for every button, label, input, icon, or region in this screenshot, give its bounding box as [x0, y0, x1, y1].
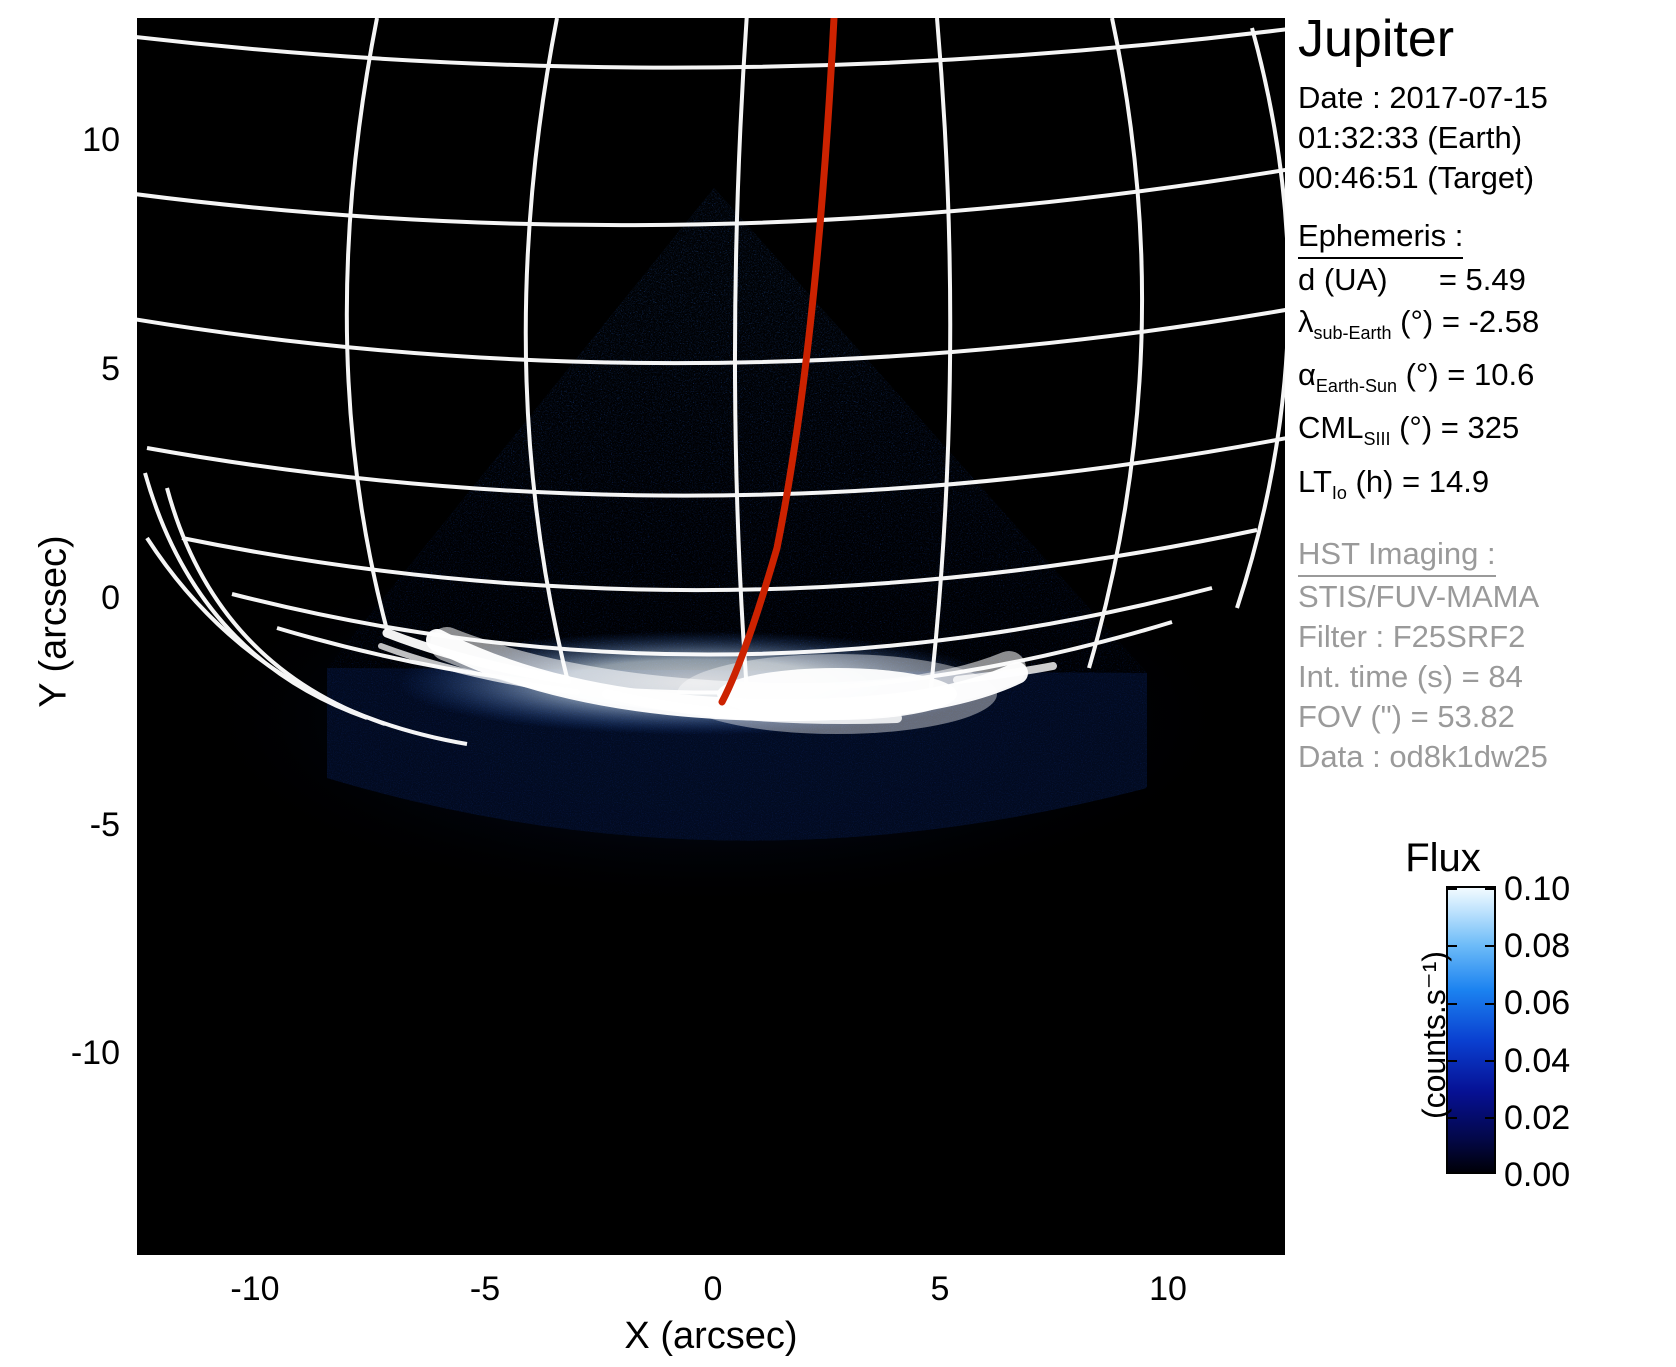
colorbar-tick-mark [1485, 1060, 1494, 1062]
ephemeris-key-lt: LT [1298, 461, 1332, 503]
colorbar-unit-label: (counts.s⁻¹) [1415, 885, 1453, 1185]
y-tick-label-minus10: -10 [10, 1036, 120, 1070]
y-axis-title: Y (arcsec) [33, 472, 76, 772]
imaging-integration-time: Int. time (s) = 84 [1298, 657, 1676, 697]
imaging-filter: Filter : F25SRF2 [1298, 617, 1676, 657]
y-tick-label-5: 5 [10, 352, 120, 386]
ephemeris-row-alpha: αEarth-Sun (°) = 10.6 [1298, 354, 1676, 407]
colorbar-label-002: 0.02 [1504, 1101, 1654, 1135]
ephemeris-row-lambda: λsub-Earth (°) = -2.58 [1298, 301, 1676, 354]
observation-time-earth: 01:32:33 (Earth) [1298, 118, 1676, 158]
colorbar-label-008: 0.08 [1504, 929, 1654, 963]
ephemeris-value-lt: = 14.9 [1402, 464, 1489, 499]
x-tick-label-5: 5 [880, 1272, 1000, 1306]
x-tick-label-minus5: -5 [425, 1272, 545, 1306]
colorbar-label-010: 0.10 [1504, 872, 1654, 906]
x-tick-label-0: 0 [653, 1272, 773, 1306]
imaging-heading: HST Imaging : [1298, 534, 1496, 577]
x-axis-title: X (arcsec) [137, 1315, 1285, 1358]
ephemeris-value-distance: = 5.49 [1439, 262, 1526, 297]
observation-time-target: 00:46:51 (Target) [1298, 158, 1676, 198]
imaging-dataset-id: Data : od8k1dw25 [1298, 737, 1676, 777]
y-tick-label-10: 10 [10, 123, 120, 157]
ephemeris-sub-lambda: sub-Earth [1314, 323, 1392, 343]
ephemeris-sub-alpha: Earth-Sun [1316, 376, 1397, 396]
ephemeris-sub-cml: SIII [1363, 430, 1390, 450]
ephemeris-unit-cml: (°) [1399, 410, 1432, 445]
colorbar-block: Flux 0.10 0.08 0.06 0.04 0.02 0.00 (coun… [1298, 836, 1676, 1196]
ephemeris-unit-lambda: (°) [1400, 304, 1433, 339]
ephemeris-key-distance: d (UA) [1298, 259, 1388, 301]
ephemeris-heading: Ephemeris : [1298, 216, 1463, 259]
ephemeris-value-cml: = 325 [1441, 410, 1519, 445]
ephemeris-unit-lt: (h) [1356, 464, 1394, 499]
ephemeris-unit-alpha: (°) [1406, 357, 1439, 392]
colorbar-tick-mark [1485, 1003, 1494, 1005]
colorbar-label-004: 0.04 [1504, 1044, 1654, 1078]
x-tick-label-10: 10 [1108, 1272, 1228, 1306]
figure-root: 10 5 0 -5 -10 -10 -5 0 5 10 X (arcsec) Y… [0, 0, 1676, 1367]
target-title: Jupiter [1298, 10, 1676, 68]
colorbar-tick-mark [1485, 1172, 1494, 1174]
imaging-instrument: STIS/FUV-MAMA [1298, 577, 1676, 617]
imaging-fov: FOV (") = 53.82 [1298, 697, 1676, 737]
observation-date: Date : 2017-07-15 [1298, 78, 1676, 118]
plot-canvas [137, 18, 1285, 1255]
aurora-image-plot[interactable] [137, 18, 1285, 1255]
colorbar-tick-mark [1485, 888, 1494, 890]
ephemeris-value-lambda: = -2.58 [1442, 304, 1539, 339]
colorbar-tick-mark [1485, 1117, 1494, 1119]
ephemeris-sub-lt: Io [1332, 483, 1347, 503]
ephemeris-row-lt: LTIo (h) = 14.9 [1298, 461, 1676, 514]
colorbar-label-000: 0.00 [1504, 1158, 1654, 1192]
x-tick-label-minus10: -10 [195, 1272, 315, 1306]
y-tick-label-minus5: -5 [10, 808, 120, 842]
ephemeris-row-cml: CMLSIII (°) = 325 [1298, 407, 1676, 460]
info-panel: Jupiter Date : 2017-07-15 01:32:33 (Eart… [1298, 10, 1676, 777]
colorbar-gradient [1446, 886, 1496, 1174]
ephemeris-value-alpha: = 10.6 [1447, 357, 1534, 392]
ephemeris-key-lambda: λ [1298, 301, 1314, 343]
ephemeris-key-cml: CML [1298, 407, 1363, 449]
ephemeris-row-distance: d (UA) = 5.49 [1298, 259, 1676, 301]
colorbar-label-006: 0.06 [1504, 986, 1654, 1020]
colorbar-tick-mark [1485, 945, 1494, 947]
ephemeris-key-alpha: α [1298, 354, 1316, 396]
